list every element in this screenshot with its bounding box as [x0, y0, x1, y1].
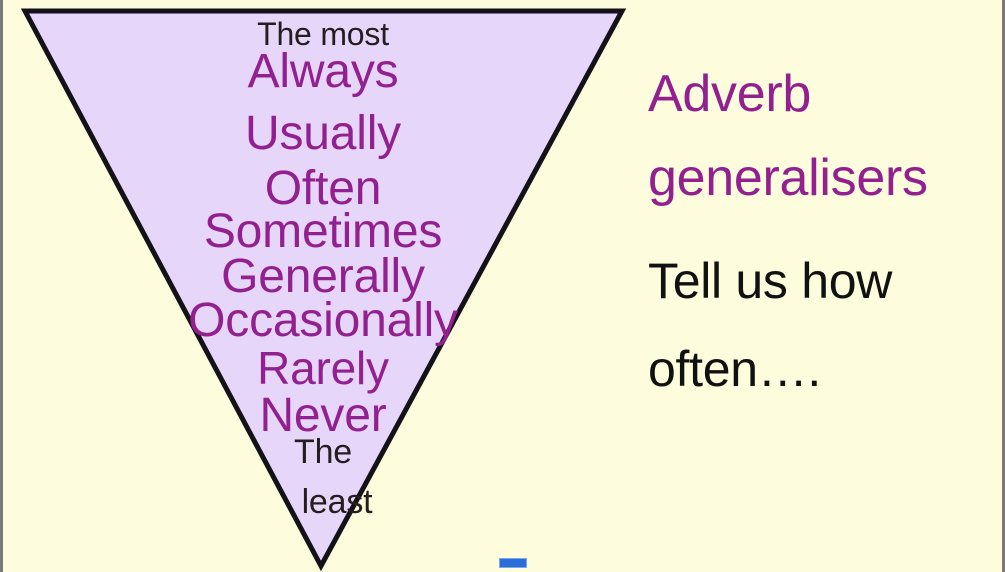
scale-word-rarely: Rarely [3, 345, 643, 391]
frequency-word-stack: The most Always Usually Often Sometimes … [3, 0, 643, 572]
body-line-1: Tell us how [648, 256, 998, 306]
right-text-column: Adverb generalisers Tell us how often…. [648, 60, 998, 394]
scale-word-usually: Usually [3, 110, 643, 158]
scale-word-occasionally: Occasionally [3, 297, 643, 345]
scale-word-sometimes: Sometimes [3, 208, 643, 256]
heading-line-2: generalisers [648, 152, 998, 204]
body-line-2: often…. [648, 344, 998, 394]
slide-canvas: The most Always Usually Often Sometimes … [0, 0, 1005, 572]
scale-word-always: Always [3, 48, 643, 96]
scale-caption-bottom-line-2: least [3, 485, 657, 519]
heading-line-1: Adverb [648, 68, 998, 120]
blue-marker-rectangle[interactable] [499, 558, 527, 568]
scale-caption-bottom-line-1: The [3, 435, 643, 469]
